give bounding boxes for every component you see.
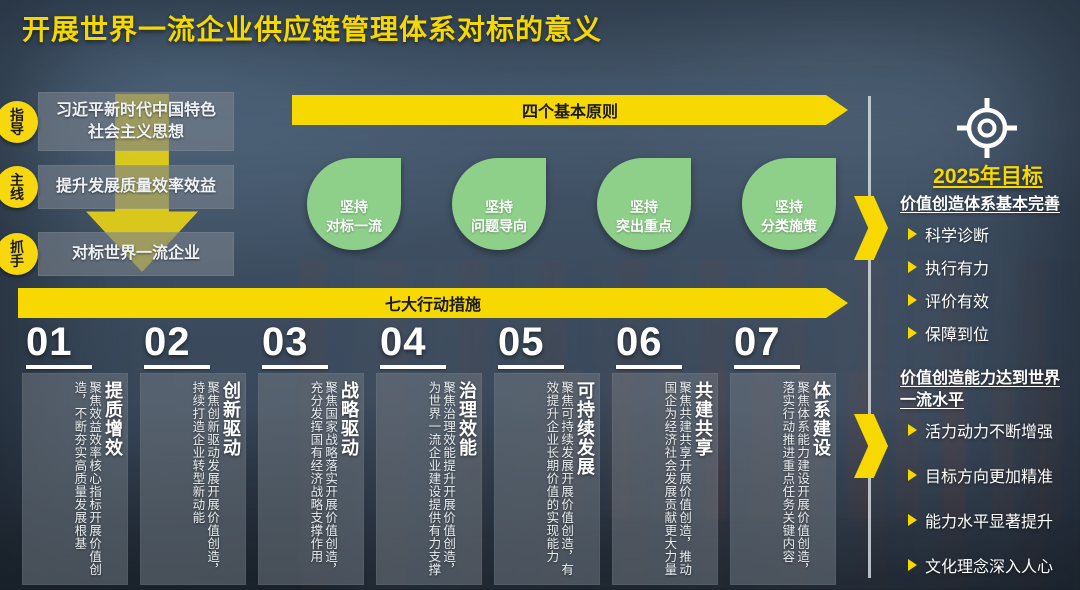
triangle-bullet-icon: [908, 424, 917, 436]
badge-zhuxian: 主 线: [0, 166, 38, 208]
action-body: 可持续发展 聚焦可持续发展开展价值创造，有效提升企业长期价值的实现能力: [494, 373, 600, 585]
triangle-bullet-icon: [908, 261, 917, 273]
action-number: 03: [258, 322, 364, 362]
action-description: 聚焦创新驱动发展开展价值创造，持续打造企业转型新动能: [190, 381, 220, 577]
banner-seven-actions: 七大行动措施: [18, 288, 848, 318]
left-bar-label: 提升发展质量效率效益: [56, 178, 216, 195]
vertical-divider: [868, 96, 871, 578]
action-body: 提质增效 聚焦效益效率核心指标开展价值创造，不断夯实高质量发展根基: [22, 373, 128, 585]
goal-item-label: 执行有力: [925, 255, 989, 279]
action-underline: [498, 365, 564, 369]
left-bar-label: 对标世界一流企业: [72, 245, 200, 262]
action-body: 体系建设 聚焦体系能力建设开展价值创造，落实行动推进重点任务关键内容: [730, 373, 836, 585]
badge-char: 指: [10, 108, 24, 122]
banner-label: 四个基本原则: [522, 98, 618, 122]
badge-char: 主: [10, 173, 24, 187]
principle-card-3-label: 坚持 突出重点: [616, 198, 672, 236]
goal-item-label: 文化理念深入人心: [925, 553, 1053, 577]
action-title: 体系建设: [811, 381, 830, 457]
action-number: 01: [22, 322, 128, 362]
left-row-1: 指 导 习近平新时代中国特色 社会主义思想: [0, 92, 234, 151]
goal-item-label: 目标方向更加精准: [925, 463, 1053, 487]
triangle-bullet-icon: [908, 514, 917, 526]
action-title: 治理效能: [457, 381, 476, 457]
banner-four-principles: 四个基本原则: [292, 95, 848, 125]
goal-item: 活力动力不断增强: [908, 418, 1053, 442]
triangle-bullet-icon: [908, 327, 917, 339]
badge-char: 手: [10, 254, 24, 268]
goal-group-2-list: 活力动力不断增强 目标方向更加精准 能力水平显著提升 文化理念深入人心: [908, 418, 1053, 577]
action-card-06[interactable]: 06 共建共享 聚焦共建共享开展价值创造，推动国企为经济社会发展贡献更大力量: [612, 322, 718, 585]
action-number: 07: [730, 322, 836, 362]
principle-card-1-label: 坚持 对标一流: [326, 198, 382, 236]
principle-card-2-label: 坚持 问题导向: [471, 198, 527, 236]
principle-card-3[interactable]: 坚持 突出重点: [597, 158, 691, 250]
action-title: 可持续发展: [575, 381, 594, 476]
goal-item: 目标方向更加精准: [908, 463, 1053, 487]
goal-item: 能力水平显著提升: [908, 508, 1053, 532]
goal-item: 文化理念深入人心: [908, 553, 1053, 577]
badge-char: 抓: [10, 240, 24, 254]
action-number: 02: [140, 322, 246, 362]
target-icon: [955, 96, 1019, 160]
banner-label: 七大行动措施: [385, 291, 481, 315]
badge-zhuashou: 抓 手: [0, 233, 38, 275]
left-bar-label: 习近平新时代中国特色 社会主义思想: [56, 102, 216, 141]
goal-item-label: 能力水平显著提升: [925, 508, 1053, 532]
action-title: 战略驱动: [339, 381, 358, 457]
action-description: 聚焦效益效率核心指标开展价值创造，不断夯实高质量发展根基: [72, 381, 102, 577]
goal-item: 科学诊断: [908, 222, 989, 246]
action-underline: [380, 365, 446, 369]
goal-item-label: 活力动力不断增强: [925, 418, 1053, 442]
left-bar-text-3: 对标世界一流企业: [38, 232, 234, 276]
left-bar-text-2: 提升发展质量效率效益: [38, 165, 234, 209]
action-number: 04: [376, 322, 482, 362]
left-row-2: 主 线 提升发展质量效率效益: [0, 165, 234, 209]
triangle-bullet-icon: [908, 469, 917, 481]
goal-year-label: 2025年目标: [898, 160, 1078, 190]
principle-card-4-label: 坚持 分类施策: [761, 198, 817, 236]
action-underline: [144, 365, 210, 369]
action-body: 共建共享 聚焦共建共享开展价值创造，推动国企为经济社会发展贡献更大力量: [612, 373, 718, 585]
action-description: 聚焦国家战略落实开展价值创造，充分发挥国有经济战略支撑作用: [308, 381, 338, 577]
action-underline: [734, 365, 800, 369]
goal-item: 评价有效: [908, 288, 989, 312]
goal-item-label: 科学诊断: [925, 222, 989, 246]
principle-card-2[interactable]: 坚持 问题导向: [452, 158, 546, 250]
action-description: 聚焦治理效能提升开展价值创造，为世界一流企业建设提供有力支撑: [426, 381, 456, 577]
goal-group-1-list: 科学诊断 执行有力 评价有效 保障到位: [908, 222, 989, 345]
triangle-bullet-icon: [908, 294, 917, 306]
triangle-bullet-icon: [908, 559, 917, 571]
action-description: 聚焦可持续发展开展价值创造，有效提升企业长期价值的实现能力: [544, 381, 574, 577]
principle-card-4[interactable]: 坚持 分类施策: [742, 158, 836, 250]
action-title: 提质增效: [103, 381, 122, 457]
goal-group-1-heading: 价值创造体系基本完善: [900, 194, 1076, 216]
principle-card-1[interactable]: 坚持 对标一流: [307, 158, 401, 250]
action-card-02[interactable]: 02 创新驱动 聚焦创新驱动发展开展价值创造，持续打造企业转型新动能: [140, 322, 246, 585]
action-number: 06: [612, 322, 718, 362]
goal-item: 执行有力: [908, 255, 989, 279]
action-title: 共建共享: [693, 381, 712, 457]
left-row-3: 抓 手 对标世界一流企业: [0, 232, 234, 276]
badge-char: 线: [10, 187, 24, 201]
page-title: 开展世界一流企业供应链管理体系对标的意义: [22, 8, 602, 48]
goal-group-2-heading: 价值创造能力达到世界一流水平: [900, 368, 1072, 411]
triangle-bullet-icon: [908, 228, 917, 240]
action-body: 战略驱动 聚焦国家战略落实开展价值创造，充分发挥国有经济战略支撑作用: [258, 373, 364, 585]
goal-item-label: 保障到位: [925, 321, 989, 345]
action-underline: [26, 365, 92, 369]
goal-item: 保障到位: [908, 321, 989, 345]
action-body: 治理效能 聚焦治理效能提升开展价值创造，为世界一流企业建设提供有力支撑: [376, 373, 482, 585]
action-card-04[interactable]: 04 治理效能 聚焦治理效能提升开展价值创造，为世界一流企业建设提供有力支撑: [376, 322, 482, 585]
action-description: 聚焦共建共享开展价值创造，推动国企为经济社会发展贡献更大力量: [662, 381, 692, 577]
badge-zhidao: 指 导: [0, 101, 38, 143]
action-underline: [262, 365, 328, 369]
action-body: 创新驱动 聚焦创新驱动发展开展价值创造，持续打造企业转型新动能: [140, 373, 246, 585]
action-card-05[interactable]: 05 可持续发展 聚焦可持续发展开展价值创造，有效提升企业长期价值的实现能力: [494, 322, 600, 585]
action-title: 创新驱动: [221, 381, 240, 457]
left-bar-text-1: 习近平新时代中国特色 社会主义思想: [38, 92, 234, 151]
guiding-principles-column: 指 导 习近平新时代中国特色 社会主义思想 主 线 提升发展质量效率效益 抓 手…: [0, 92, 250, 282]
badge-char: 导: [10, 122, 24, 136]
action-card-03[interactable]: 03 战略驱动 聚焦国家战略落实开展价值创造，充分发挥国有经济战略支撑作用: [258, 322, 364, 585]
goal-item-label: 评价有效: [925, 288, 989, 312]
action-underline: [616, 365, 682, 369]
action-card-01[interactable]: 01 提质增效 聚焦效益效率核心指标开展价值创造，不断夯实高质量发展根基: [22, 322, 128, 585]
action-number: 05: [494, 322, 600, 362]
action-description: 聚焦体系能力建设开展价值创造，落实行动推进重点任务关键内容: [780, 381, 810, 577]
action-card-07[interactable]: 07 体系建设 聚焦体系能力建设开展价值创造，落实行动推进重点任务关键内容: [730, 322, 836, 585]
